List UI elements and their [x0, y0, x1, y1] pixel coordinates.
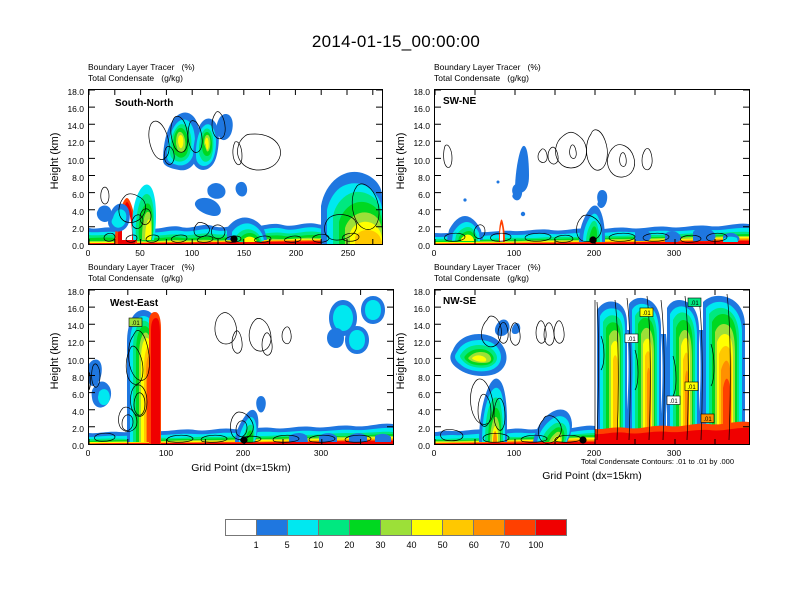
location-marker: [230, 235, 237, 242]
panel-header-line2: Total Condensate (g/kg): [88, 273, 195, 284]
contour-label-west-east: .01: [129, 318, 142, 327]
panel-tag-south-north: South-North: [115, 98, 173, 109]
colorbar[interactable]: [225, 519, 567, 536]
svg-text:.01: .01: [669, 399, 678, 405]
location-marker: [589, 236, 596, 243]
panel-header-west-east: Boundary Layer Tracer (%) Total Condensa…: [88, 262, 195, 283]
svg-text:.01: .01: [690, 301, 699, 307]
colorbar-cell-5: [380, 520, 411, 535]
panel-header-south-north: Boundary Layer Tracer (%) Total Condensa…: [88, 62, 195, 83]
colorbar-cell-10: [535, 520, 566, 535]
x-axis-label-west-east: Grid Point (dx=15km): [88, 462, 394, 474]
plot-area-sw-ne[interactable]: [434, 89, 750, 245]
colorbar-cell-2: [287, 520, 318, 535]
panel-header-line1: Boundary Layer Tracer (%): [434, 262, 541, 273]
contour-field-west-east: .01: [89, 290, 393, 444]
colorbar-cell-7: [442, 520, 473, 535]
colorbar-cell-3: [318, 520, 349, 535]
location-marker: [579, 436, 586, 443]
svg-text:.01: .01: [642, 311, 651, 317]
colorbar-cell-9: [504, 520, 535, 535]
contour-field-sw-ne: [435, 90, 749, 244]
panel-header-line1: Boundary Layer Tracer (%): [434, 62, 541, 73]
panel-tag-sw-ne: SW-NE: [443, 96, 476, 107]
contour-field-nw-se: .01 .01 .01 .01 .01 .01: [435, 290, 749, 444]
x-axis-label-nw-se: Grid Point (dx=15km): [434, 470, 750, 482]
svg-text:.01: .01: [131, 321, 140, 327]
plot-area-south-north[interactable]: [88, 89, 383, 245]
colorbar-cell-8: [473, 520, 504, 535]
colorbar-cell-0: [226, 520, 256, 535]
colorbar-cell-4: [349, 520, 380, 535]
colorbar-labels: 1510203040506070100: [225, 540, 567, 554]
colorbar-cell-6: [411, 520, 442, 535]
contour-note: Total Condensate Contours: .01 to .01 by…: [581, 457, 734, 466]
plot-area-nw-se[interactable]: .01 .01 .01 .01 .01 .01: [434, 289, 750, 445]
plot-area-west-east[interactable]: .01: [88, 289, 394, 445]
panel-header-line2: Total Condensate (g/kg): [88, 73, 195, 84]
panel-header-line2: Total Condensate (g/kg): [434, 273, 541, 284]
panel-tag-west-east: West-East: [110, 298, 158, 309]
contour-field-south-north: [89, 90, 382, 244]
svg-text:.01: .01: [627, 337, 636, 343]
panel-tag-nw-se: NW-SE: [443, 296, 476, 307]
svg-text:.01: .01: [687, 385, 696, 391]
panel-header-sw-ne: Boundary Layer Tracer (%) Total Condensa…: [434, 62, 541, 83]
panel-header-line2: Total Condensate (g/kg): [434, 73, 541, 84]
page-title: 2014-01-15_00:00:00: [0, 32, 792, 52]
colorbar-label-100: 100: [516, 540, 556, 550]
figure-canvas: 2014-01-15_00:00:00 Boundary Layer Trace…: [0, 0, 792, 612]
panel-header-line1: Boundary Layer Tracer (%): [88, 62, 195, 73]
panel-header-line1: Boundary Layer Tracer (%): [88, 262, 195, 273]
panel-header-nw-se: Boundary Layer Tracer (%) Total Condensa…: [434, 262, 541, 283]
colorbar-cell-1: [256, 520, 287, 535]
svg-text:.01: .01: [703, 417, 712, 423]
